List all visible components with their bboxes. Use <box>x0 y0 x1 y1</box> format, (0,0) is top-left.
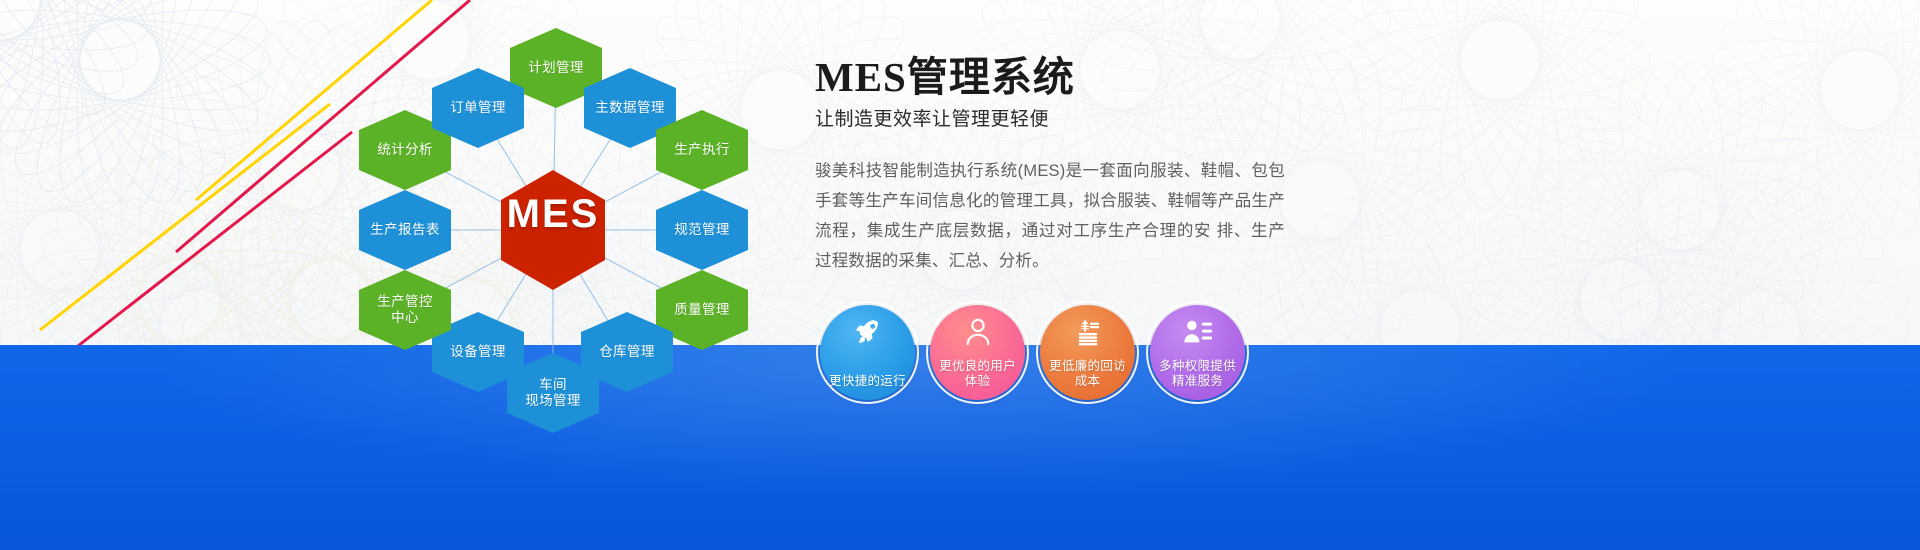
page-subtitle: 让制造更效率让管理更轻便 <box>815 106 1285 134</box>
money-stack-icon <box>1073 317 1103 347</box>
hex-node-standard-management[interactable] <box>656 190 748 270</box>
badge-lower-cost-label: 更低廉的回访 成本 <box>1049 359 1126 389</box>
rocket-icon <box>853 317 883 347</box>
feature-badge-row: 更快捷的运行更优良的用户 体验更低廉的回访 成本多种权限提供 精准服务 <box>820 305 1245 400</box>
badge-faster-operation-label: 更快捷的运行 <box>829 374 906 389</box>
hex-node-production-report[interactable] <box>359 190 451 270</box>
description-paragraph: 骏美科技智能制造执行系统(MES)是一套面向服装、鞋帽、包包手套等生产车间信息化… <box>815 156 1285 276</box>
badge-lower-cost[interactable]: 更低廉的回访 成本 <box>1040 305 1135 400</box>
badge-better-experience-label: 更优良的用户 体验 <box>939 359 1016 389</box>
user-icon <box>963 317 993 347</box>
mes-hexagon-diagram: 计划管理主数据管理生产执行规范管理质量管理仓库管理车间 现场管理设备管理生产管控… <box>330 18 790 448</box>
badge-permissions[interactable]: 多种权限提供 精准服务 <box>1150 305 1245 400</box>
badge-better-experience[interactable]: 更优良的用户 体验 <box>930 305 1025 400</box>
permissions-icon <box>1183 317 1213 347</box>
page-title: MES管理系统 <box>815 52 1285 102</box>
badge-permissions-label: 多种权限提供 精准服务 <box>1159 359 1236 389</box>
content-column: MES管理系统 让制造更效率让管理更轻便 骏美科技智能制造执行系统(MES)是一… <box>815 52 1285 276</box>
mes-promo-banner: 计划管理主数据管理生产执行规范管理质量管理仓库管理车间 现场管理设备管理生产管控… <box>0 0 1920 550</box>
badge-faster-operation[interactable]: 更快捷的运行 <box>820 305 915 400</box>
